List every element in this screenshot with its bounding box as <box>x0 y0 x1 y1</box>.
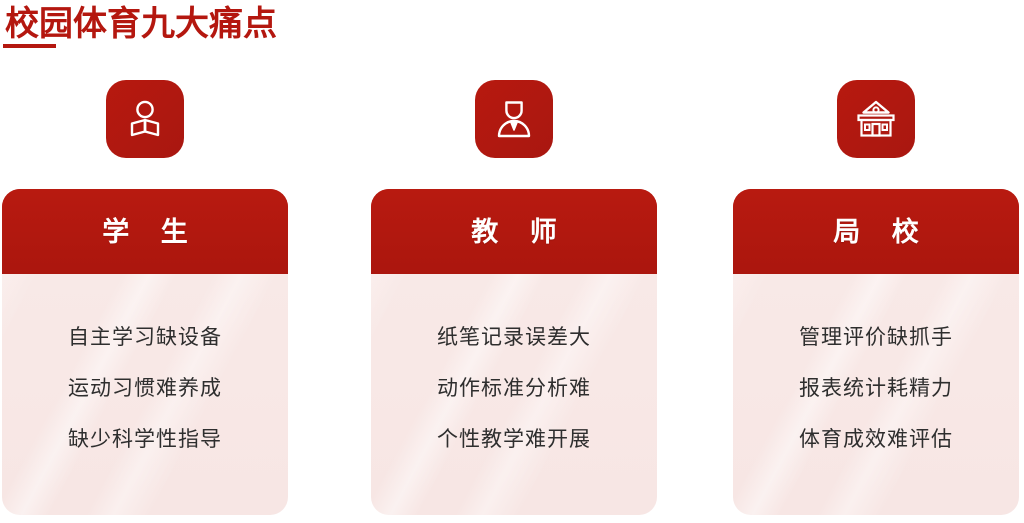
pain-point-item: 管理评价缺抓手 <box>733 326 1019 350</box>
pain-point-item: 动作标准分析难 <box>371 377 657 401</box>
pain-point-item: 自主学习缺设备 <box>2 326 288 350</box>
pain-point-column-student: 学 生 自主学习缺设备 运动习惯难养成 缺少科学性指导 <box>2 74 288 523</box>
school-building-icon-badge <box>837 80 915 158</box>
pain-point-item: 运动习惯难养成 <box>2 377 288 401</box>
card-header: 局 校 <box>733 189 1019 274</box>
student-reading-icon <box>123 97 167 141</box>
pain-point-column-school: 局 校 管理评价缺抓手 报表统计耗精力 体育成效难评估 <box>733 74 1019 523</box>
teacher-person-icon-badge <box>475 80 553 158</box>
card-body: 自主学习缺设备 运动习惯难养成 缺少科学性指导 <box>2 274 288 515</box>
card-header-label: 学 生 <box>90 217 200 247</box>
pain-point-card: 学 生 自主学习缺设备 运动习惯难养成 缺少科学性指导 <box>2 189 288 515</box>
pain-point-card: 局 校 管理评价缺抓手 报表统计耗精力 体育成效难评估 <box>733 189 1019 515</box>
page-title-block: 校园体育九大痛点 <box>5 4 425 52</box>
pain-point-item: 纸笔记录误差大 <box>371 326 657 350</box>
pain-point-item: 报表统计耗精力 <box>733 377 1019 401</box>
card-body: 纸笔记录误差大 动作标准分析难 个性教学难开展 <box>371 274 657 515</box>
pain-point-column-teacher: 教 师 纸笔记录误差大 动作标准分析难 个性教学难开展 <box>371 74 657 523</box>
pain-point-item: 缺少科学性指导 <box>2 428 288 452</box>
page-title: 校园体育九大痛点 <box>5 4 425 44</box>
teacher-person-icon <box>492 97 536 141</box>
pain-point-columns: 学 生 自主学习缺设备 运动习惯难养成 缺少科学性指导 教 师 <box>0 74 1024 523</box>
pain-point-item: 体育成效难评估 <box>733 428 1019 452</box>
pain-point-item: 个性教学难开展 <box>371 428 657 452</box>
pain-point-card: 教 师 纸笔记录误差大 动作标准分析难 个性教学难开展 <box>371 189 657 515</box>
student-reading-icon-badge <box>106 80 184 158</box>
card-header-label: 局 校 <box>821 217 931 247</box>
card-header: 学 生 <box>2 189 288 274</box>
card-header: 教 师 <box>371 189 657 274</box>
card-header-label: 教 师 <box>459 217 569 247</box>
title-underline-accent <box>3 44 56 48</box>
card-body: 管理评价缺抓手 报表统计耗精力 体育成效难评估 <box>733 274 1019 515</box>
school-building-icon <box>854 97 898 141</box>
